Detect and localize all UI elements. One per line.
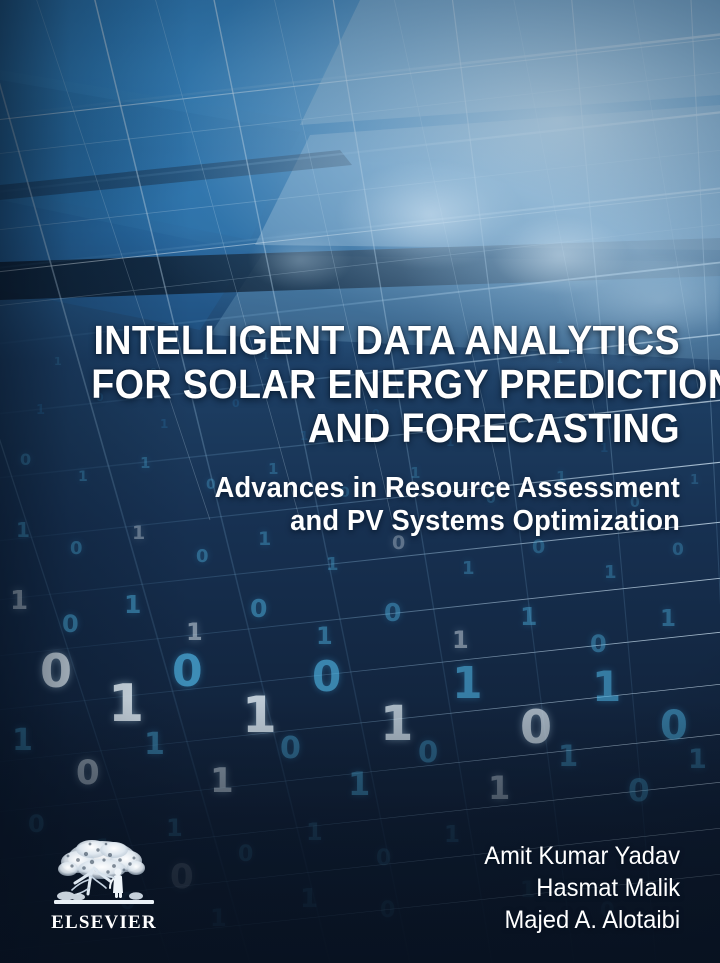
book-cover: 1 0 1 0 1 0 1 0 1 0 0 1 1 0 1 0 1 0 1 0 …: [0, 0, 720, 963]
author-name-1: Amit Kumar Yadav: [484, 840, 680, 872]
publisher-logo: ELSEVIER: [48, 836, 160, 934]
author-block: Amit Kumar Yadav Hasmat Malik Majed A. A…: [474, 840, 680, 936]
subtitle-line-1: Advances in Resource Assessment: [78, 472, 680, 505]
subtitle-line-2: and PV Systems Optimization: [78, 505, 680, 538]
author-name-2: Hasmat Malik: [484, 872, 680, 904]
title-line-2: FOR SOLAR ENERGY PREDICTION: [91, 362, 680, 406]
title-line-1: INTELLIGENT DATA ANALYTICS: [91, 318, 680, 362]
title-block: INTELLIGENT DATA ANALYTICS FOR SOLAR ENE…: [40, 318, 680, 538]
elsevier-tree-icon: [48, 836, 160, 910]
title-line-3: AND FORECASTING: [91, 406, 680, 450]
publisher-name: ELSEVIER: [48, 912, 160, 934]
subtitle-block: Advances in Resource Assessment and PV S…: [40, 472, 680, 538]
author-name-3: Majed A. Alotaibi: [484, 904, 680, 936]
